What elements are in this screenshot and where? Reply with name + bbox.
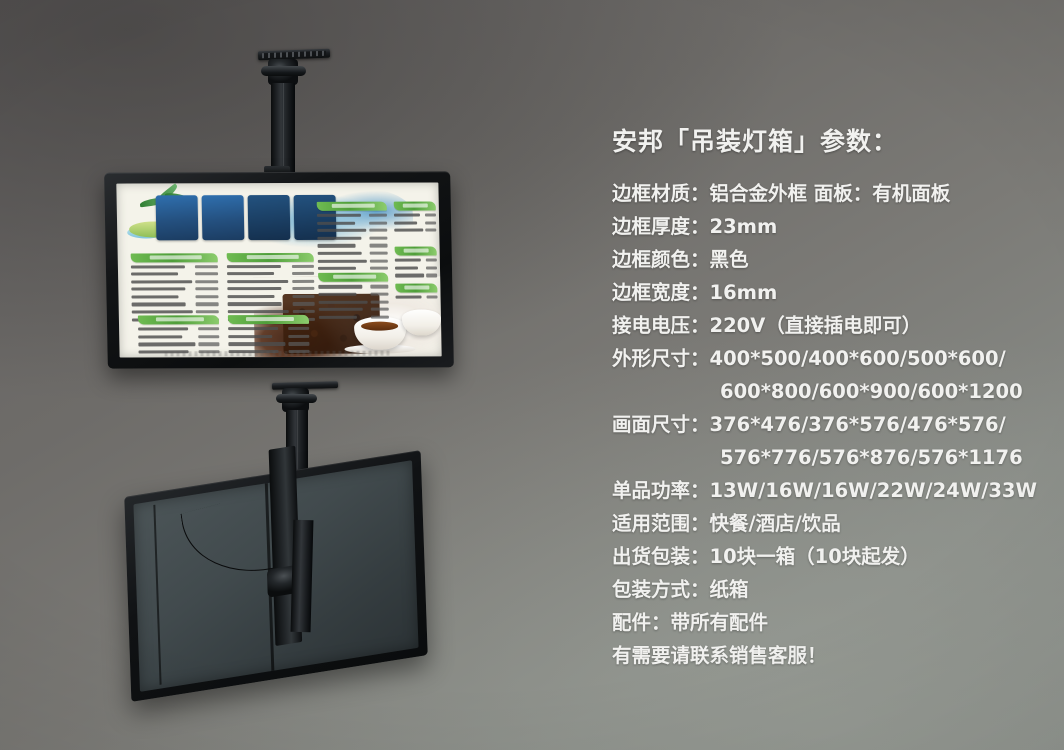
spec-line: 边框厚度：23mm bbox=[612, 210, 1042, 243]
spec-line: 边框颜色：黑色 bbox=[612, 243, 1042, 276]
menu-item-name bbox=[228, 302, 282, 305]
menu-headline-char bbox=[247, 195, 290, 240]
menu-section-8 bbox=[318, 273, 390, 322]
menu-item-name bbox=[317, 214, 361, 217]
menu-item-price bbox=[288, 335, 309, 338]
menu-item-price bbox=[370, 259, 388, 262]
menu-item-name bbox=[317, 221, 355, 224]
menu-item-row bbox=[228, 294, 315, 299]
menu-item-price bbox=[425, 213, 436, 216]
spec-line: 接电电压：220V（直接插电即可） bbox=[612, 309, 1042, 342]
menu-watermark bbox=[165, 351, 391, 357]
menu-item-row bbox=[139, 357, 220, 358]
menu-item-row bbox=[227, 263, 314, 268]
menu-section-7 bbox=[394, 247, 437, 281]
menu-item-price bbox=[425, 221, 436, 224]
menu-item-price bbox=[426, 274, 437, 277]
menu-item-price bbox=[288, 342, 309, 345]
menu-item-name bbox=[394, 229, 423, 232]
menu-item-name bbox=[131, 280, 192, 283]
menu-item-price bbox=[425, 229, 436, 232]
menu-section-header bbox=[394, 202, 436, 211]
spec-line: 适用范围：快餐/酒店/饮品 bbox=[612, 507, 1042, 540]
spec-line: 600*800/600*900/600*1200 bbox=[612, 375, 1042, 408]
menu-item-row bbox=[131, 287, 218, 292]
menu-item-row bbox=[317, 220, 388, 225]
menu-item-price bbox=[370, 285, 388, 288]
menu-section-header bbox=[131, 253, 218, 262]
menu-item-price bbox=[369, 236, 387, 239]
menu-item-name bbox=[132, 310, 193, 313]
menu-item-row bbox=[394, 220, 436, 225]
menu-item-price bbox=[292, 287, 315, 290]
menu-item-name bbox=[394, 221, 417, 224]
menu-item-row bbox=[229, 326, 310, 331]
menu-item-name bbox=[394, 214, 420, 217]
menu-item-name bbox=[131, 288, 185, 291]
menu-section-1 bbox=[131, 253, 219, 325]
menu-item-price bbox=[196, 303, 219, 306]
menu-item-row bbox=[317, 213, 388, 218]
menu-item-name bbox=[131, 265, 185, 268]
menu-item-row bbox=[228, 309, 315, 314]
menu-item-price bbox=[371, 315, 389, 318]
menu-section-6 bbox=[394, 202, 437, 236]
menu-item-price bbox=[293, 310, 316, 313]
menu-item-name bbox=[228, 310, 289, 313]
menu-section-header bbox=[395, 283, 437, 292]
mount-pole-extension bbox=[291, 520, 314, 632]
menu-item-name bbox=[317, 244, 355, 247]
menu-item-price bbox=[370, 244, 388, 247]
spec-line: 边框材质：铝合金外框 面板：有机面板 bbox=[612, 177, 1042, 210]
menu-item-price bbox=[370, 267, 388, 270]
menu-section-header bbox=[316, 202, 387, 211]
menu-item-row bbox=[229, 341, 310, 346]
spec-line-list: 边框材质：铝合金外框 面板：有机面板边框厚度：23mm边框颜色：黑色边框宽度：1… bbox=[612, 177, 1042, 672]
menu-item-name bbox=[229, 342, 285, 345]
menu-item-price bbox=[195, 265, 218, 268]
menu-item-price bbox=[198, 335, 219, 338]
menu-item-row bbox=[318, 284, 389, 289]
menu-item-price bbox=[288, 327, 309, 330]
menu-item-row bbox=[317, 258, 388, 263]
menu-item-name bbox=[318, 267, 356, 270]
rear-panel-seam-left bbox=[153, 505, 161, 685]
menu-item-price bbox=[195, 280, 218, 283]
menu-item-name bbox=[317, 259, 367, 262]
pivot-bolt-upper bbox=[261, 66, 306, 76]
menu-item-name bbox=[319, 315, 357, 318]
menu-item-row bbox=[229, 356, 310, 357]
menu-item-name bbox=[395, 274, 424, 277]
menu-item-price bbox=[369, 214, 387, 217]
menu-item-name bbox=[228, 287, 282, 290]
menu-section-header bbox=[318, 273, 389, 282]
spec-line: 边框宽度：16mm bbox=[612, 276, 1042, 309]
menu-item-name bbox=[318, 308, 362, 311]
menu-item-price bbox=[371, 308, 389, 311]
menu-item-row bbox=[228, 301, 315, 306]
spec-line: 单品功率：13W/16W/16W/22W/24W/33W bbox=[612, 474, 1042, 507]
menu-item-name bbox=[318, 285, 362, 288]
menu-item-price bbox=[292, 295, 315, 298]
menu-item-row bbox=[131, 264, 218, 269]
menu-item-name bbox=[317, 237, 361, 240]
lightbox-menu-panel bbox=[116, 182, 441, 357]
menu-item-name bbox=[139, 335, 183, 338]
menu-item-row bbox=[228, 286, 315, 291]
menu-item-row bbox=[131, 302, 218, 307]
product-photo bbox=[0, 0, 560, 750]
menu-item-row bbox=[395, 294, 437, 299]
menu-item-row bbox=[227, 271, 314, 276]
spec-title: 安邦「吊装灯箱」参数： bbox=[612, 122, 1042, 158]
menu-item-row bbox=[317, 243, 388, 248]
menu-item-row bbox=[229, 334, 310, 339]
menu-item-row bbox=[132, 309, 219, 314]
menu-item-price bbox=[292, 302, 315, 305]
spec-panel: 安邦「吊装灯箱」参数： 边框材质：铝合金外框 面板：有机面板边框厚度：23mm边… bbox=[612, 122, 1042, 672]
menu-item-name bbox=[131, 303, 185, 306]
menu-item-name bbox=[318, 300, 368, 303]
spec-line: 出货包装：10块一箱（10块起发） bbox=[612, 540, 1042, 573]
menu-item-name bbox=[318, 293, 356, 296]
menu-item-row bbox=[318, 292, 389, 297]
menu-item-row bbox=[131, 271, 218, 276]
spec-line: 外形尺寸：400*500/400*600/500*600/ bbox=[612, 342, 1042, 375]
front-lightbox bbox=[104, 171, 454, 368]
menu-section-header bbox=[227, 252, 314, 261]
menu-item-name bbox=[395, 259, 421, 262]
menu-item-name bbox=[228, 272, 275, 275]
pivot-bolt-lower bbox=[276, 394, 317, 403]
menu-item-name bbox=[229, 335, 273, 338]
menu-item-price bbox=[426, 295, 437, 298]
menu-item-row bbox=[318, 314, 389, 319]
menu-item-name bbox=[229, 327, 279, 330]
menu-item-row bbox=[138, 326, 219, 331]
menu-item-price bbox=[292, 264, 315, 267]
menu-item-price bbox=[198, 327, 219, 330]
spec-line: 画面尺寸：376*476/376*576/476*576/ bbox=[612, 408, 1042, 441]
menu-headline-xiari-kuyin bbox=[155, 195, 336, 241]
menu-section-header bbox=[228, 315, 309, 324]
menu-item-row bbox=[318, 299, 389, 304]
menu-item-price bbox=[292, 280, 315, 283]
rear-lightbox bbox=[124, 450, 427, 702]
menu-item-price bbox=[196, 310, 219, 313]
menu-item-price bbox=[195, 272, 218, 275]
menu-item-row bbox=[394, 228, 436, 233]
menu-section-9 bbox=[395, 283, 437, 302]
menu-item-row bbox=[395, 273, 437, 278]
lightbox-aluminum-frame bbox=[104, 171, 454, 368]
menu-item-row bbox=[317, 236, 388, 241]
menu-item-name bbox=[228, 295, 275, 298]
menu-item-name bbox=[317, 252, 361, 255]
menu-item-price bbox=[369, 229, 387, 232]
menu-item-row bbox=[395, 265, 437, 270]
spec-line: 有需要请联系销售客服！ bbox=[612, 639, 1042, 672]
menu-item-price bbox=[426, 266, 437, 269]
menu-item-price bbox=[426, 259, 437, 262]
menu-item-row bbox=[131, 294, 218, 299]
spec-line: 配件：带所有配件 bbox=[612, 606, 1042, 639]
menu-item-name bbox=[131, 272, 178, 275]
menu-section-5 bbox=[316, 202, 388, 274]
menu-item-price bbox=[369, 221, 387, 224]
menu-item-row bbox=[394, 213, 436, 218]
menu-section-2 bbox=[227, 252, 315, 324]
spec-line: 576*776/576*876/576*1176 bbox=[612, 441, 1042, 474]
menu-item-price bbox=[371, 300, 389, 303]
menu-item-row bbox=[139, 342, 220, 347]
coffee-liquid bbox=[361, 322, 399, 331]
menu-item-price bbox=[198, 343, 219, 346]
menu-item-name bbox=[317, 229, 367, 232]
menu-item-name bbox=[395, 295, 421, 298]
menu-item-price bbox=[370, 293, 388, 296]
menu-section-header bbox=[394, 247, 436, 256]
menu-item-name bbox=[227, 264, 281, 267]
menu-headline-char bbox=[201, 195, 244, 240]
menu-item-row bbox=[317, 251, 388, 256]
menu-headline-char bbox=[155, 195, 198, 240]
menu-item-row bbox=[318, 266, 389, 271]
menu-item-row bbox=[131, 279, 218, 284]
menu-item-name bbox=[131, 295, 178, 298]
menu-item-row bbox=[318, 307, 389, 312]
menu-item-price bbox=[196, 287, 219, 290]
menu-item-name bbox=[395, 266, 418, 269]
menu-item-row bbox=[317, 228, 388, 233]
menu-item-price bbox=[370, 252, 388, 255]
spec-line: 包装方式：纸箱 bbox=[612, 573, 1042, 606]
menu-item-price bbox=[196, 295, 219, 298]
menu-item-row bbox=[139, 334, 220, 339]
menu-item-name bbox=[228, 280, 289, 283]
menu-item-name bbox=[138, 327, 188, 330]
menu-item-row bbox=[395, 258, 437, 263]
menu-item-row bbox=[228, 279, 315, 284]
menu-item-price bbox=[292, 272, 315, 275]
menu-section-header bbox=[138, 315, 219, 324]
menu-item-name bbox=[139, 343, 195, 346]
